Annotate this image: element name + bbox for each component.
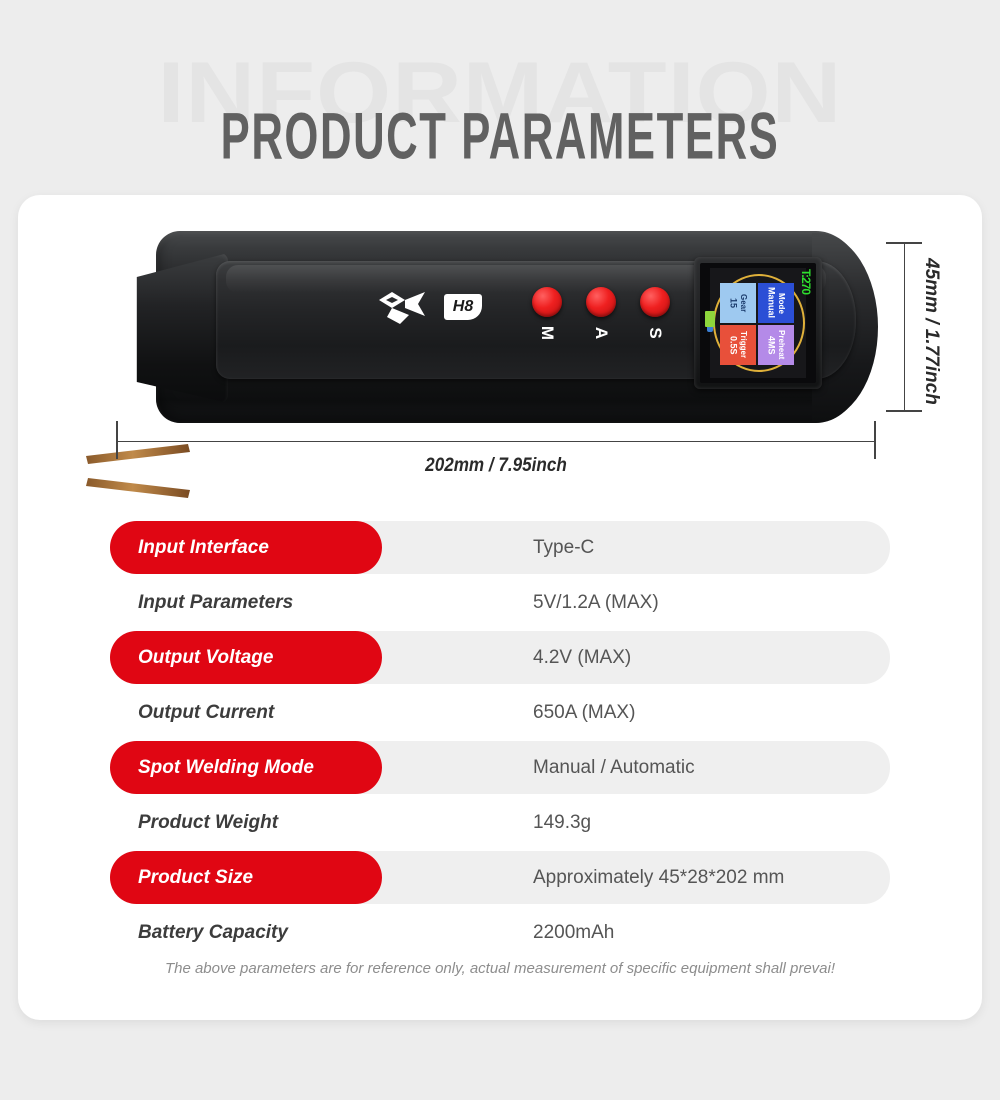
screen-tile-trigger-value: 0.5S <box>728 336 738 355</box>
length-dimension-tick-left <box>116 421 118 459</box>
spec-value: 5V/1.2A (MAX) <box>533 576 659 629</box>
spec-label: Product Weight <box>110 796 382 849</box>
screen-tile-gear[interactable]: Gear 15 <box>720 283 756 323</box>
spec-label: Output Current <box>110 686 382 739</box>
height-dimension: 45mm / 1.77inch <box>900 242 908 412</box>
height-dimension-line <box>904 242 905 412</box>
spec-label: Product Size <box>110 851 382 904</box>
device-screen-bezel: T:270 Mode Manual Gear 15 Preheat 4MS <box>694 257 822 389</box>
height-dimension-tick-top <box>886 242 922 244</box>
length-dimension-line <box>116 441 876 442</box>
device-screen[interactable]: T:270 Mode Manual Gear 15 Preheat 4MS <box>700 263 816 383</box>
table-row: Input Interface Type-C <box>18 520 982 575</box>
height-dimension-tick-bottom <box>886 410 922 412</box>
screen-tile-mode[interactable]: Mode Manual <box>758 283 794 323</box>
spec-value: 2200mAh <box>533 906 614 959</box>
height-dimension-label: 45mm / 1.77inch <box>920 258 942 405</box>
manual-button-label: M <box>537 318 557 348</box>
set-button[interactable] <box>640 287 670 317</box>
screen-tile-preheat-value: 4MS <box>766 336 776 355</box>
screen-tile-trigger[interactable]: Trigger 0.5S <box>720 325 756 365</box>
screen-temperature: T:270 <box>799 269 813 294</box>
spec-value: Type-C <box>533 521 594 574</box>
screen-tile-preheat-title: Preheat <box>777 330 786 359</box>
screen-tile-mode-value: Manual <box>766 287 776 318</box>
table-row: Battery Capacity 2200mAh <box>18 905 982 960</box>
spec-value: 4.2V (MAX) <box>533 631 631 684</box>
table-row: Output Voltage 4.2V (MAX) <box>18 630 982 685</box>
product-photo: H8 M A S T:270 Mode Manual <box>18 195 982 495</box>
spec-label: Output Voltage <box>110 631 382 684</box>
screen-tile-trigger-title: Trigger <box>739 331 748 358</box>
table-row: Output Current 650A (MAX) <box>18 685 982 740</box>
spec-value: 650A (MAX) <box>533 686 635 739</box>
spec-value: Manual / Automatic <box>533 741 695 794</box>
screen-tile-gear-title: Gear <box>739 294 748 312</box>
page-title: PRODUCT PARAMETERS <box>110 97 890 174</box>
table-row: Input Parameters 5V/1.2A (MAX) <box>18 575 982 630</box>
spec-label: Battery Capacity <box>110 906 382 959</box>
spec-label: Spot Welding Mode <box>110 741 382 794</box>
screen-tile-preheat[interactable]: Preheat 4MS <box>758 325 794 365</box>
automatic-button-label: A <box>591 318 611 348</box>
page-header: INFORMATION PRODUCT PARAMETERS <box>0 0 1000 195</box>
spec-label: Input Interface <box>110 521 382 574</box>
table-row: Product Size Approximately 45*28*202 mm <box>18 850 982 905</box>
table-row: Spot Welding Mode Manual / Automatic <box>18 740 982 795</box>
length-dimension-tick-right <box>874 421 876 459</box>
spot-welder-device: H8 M A S T:270 Mode Manual <box>156 231 876 423</box>
device-nose <box>108 253 228 403</box>
length-dimension: 202mm / 7.95inch <box>116 437 876 445</box>
brand-logo-icon <box>378 291 426 325</box>
disclaimer-text: The above parameters are for reference o… <box>18 960 982 977</box>
spec-value: Approximately 45*28*202 mm <box>533 851 784 904</box>
model-badge: H8 <box>444 294 482 320</box>
spec-value: 149.3g <box>533 796 591 849</box>
specifications-table: Input Interface Type-C Input Parameters … <box>18 520 982 960</box>
set-button-label: S <box>645 318 665 348</box>
length-dimension-label: 202mm / 7.95inch <box>154 455 838 477</box>
spec-label: Input Parameters <box>110 576 382 629</box>
content-card: H8 M A S T:270 Mode Manual <box>18 195 982 1020</box>
screen-tile-mode-title: Mode <box>777 293 786 314</box>
screen-tile-gear-value: 15 <box>728 298 738 308</box>
battery-icon <box>705 311 715 327</box>
automatic-button[interactable] <box>586 287 616 317</box>
manual-button[interactable] <box>532 287 562 317</box>
table-row: Product Weight 149.3g <box>18 795 982 850</box>
